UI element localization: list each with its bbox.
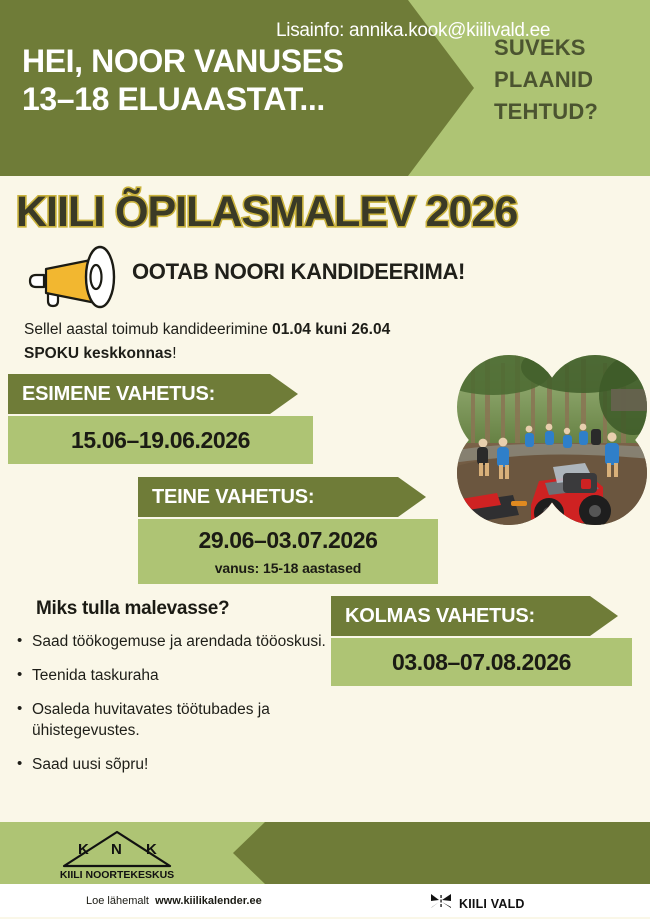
svg-text:KIILI NOORTEKESKUS: KIILI NOORTEKESKUS bbox=[60, 869, 174, 880]
footer-arrow-shape bbox=[233, 822, 650, 884]
intro-dates: 01.04 kuni 26.04 bbox=[272, 321, 390, 338]
camp-photo bbox=[453, 355, 650, 527]
megaphone-label: OOTAB NOORI KANDIDEERIMA! bbox=[132, 259, 465, 285]
intro-paragraph: Sellel aastal toimub kandideerimine 01.0… bbox=[24, 318, 464, 366]
read-more-url[interactable]: www.kiilikalender.ee bbox=[155, 895, 262, 907]
shift-1-label: ESIMENE VAHETUS: bbox=[8, 374, 298, 414]
header-title-line1: HEI, NOOR VANUSES bbox=[22, 42, 412, 80]
megaphone-icon bbox=[22, 245, 126, 309]
header-side-question: SUVEKS PLAANID TEHTUD? bbox=[494, 32, 640, 128]
contact-email[interactable]: Lisainfo: annika.kook@kiilivald.ee bbox=[276, 20, 550, 42]
intro-suffix: ! bbox=[172, 345, 176, 362]
svg-text:K: K bbox=[78, 841, 89, 858]
read-more-label: Loe lähemalt bbox=[86, 895, 149, 907]
page-title: KIILI ÕPILASMALEV 2026 bbox=[16, 188, 641, 237]
shift-3-label: KOLMAS VAHETUS: bbox=[331, 596, 618, 636]
kiili-noortekeskus-logo: K N K KIILI NOORTEKESKUS bbox=[56, 828, 178, 880]
poster-root: HEI, NOOR VANUSES 13–18 ELUAASTAT... SUV… bbox=[0, 0, 650, 919]
intro-platform: SPOKU keskkonnas bbox=[24, 345, 172, 362]
header-side-line3: TEHTUD? bbox=[494, 96, 640, 128]
svg-text:K: K bbox=[146, 841, 157, 858]
why-join-heading: Miks tulla malevasse? bbox=[36, 598, 229, 620]
kiili-vald-mark-icon bbox=[430, 893, 452, 914]
shift-3-dates: 03.08–07.08.2026 bbox=[392, 649, 571, 676]
shift-2-body: 29.06–03.07.2026 vanus: 15-18 aastased bbox=[138, 519, 438, 584]
shift-1-dates: 15.06–19.06.2026 bbox=[71, 427, 250, 454]
kiili-vald-logo: KIILI VALD bbox=[430, 893, 525, 914]
shift-2-label: TEINE VAHETUS: bbox=[138, 477, 426, 517]
read-more-line: Loe lähemalt www.kiilikalender.ee bbox=[86, 895, 262, 907]
list-item: Saad töökogemuse ja arendada tööoskusi. bbox=[32, 632, 352, 653]
kiili-vald-label: KIILI VALD bbox=[459, 897, 525, 911]
why-join-list: Saad töökogemuse ja arendada tööoskusi. … bbox=[14, 632, 352, 789]
header-title: HEI, NOOR VANUSES 13–18 ELUAASTAT... bbox=[22, 42, 412, 119]
shift-1-body: 15.06–19.06.2026 bbox=[8, 416, 313, 464]
intro-prefix: Sellel aastal toimub kandideerimine bbox=[24, 321, 272, 338]
svg-text:N: N bbox=[111, 841, 122, 858]
header-title-line2: 13–18 ELUAASTAT... bbox=[22, 80, 412, 118]
shift-2-age-note: vanus: 15-18 aastased bbox=[215, 560, 362, 576]
shift-2-dates: 29.06–03.07.2026 bbox=[198, 527, 377, 554]
list-item: Saad uusi sõpru! bbox=[32, 755, 352, 776]
megaphone-row: OOTAB NOORI KANDIDEERIMA! bbox=[22, 245, 622, 311]
shift-3-body: 03.08–07.08.2026 bbox=[331, 638, 632, 686]
bottom-strip: Loe lähemalt www.kiilikalender.ee KIILI … bbox=[0, 884, 650, 919]
list-item: Teenida taskuraha bbox=[32, 666, 352, 687]
header-side-line2: PLAANID bbox=[494, 64, 640, 96]
list-item: Osaleda huvitavates töötubades ja ühiste… bbox=[32, 700, 352, 742]
